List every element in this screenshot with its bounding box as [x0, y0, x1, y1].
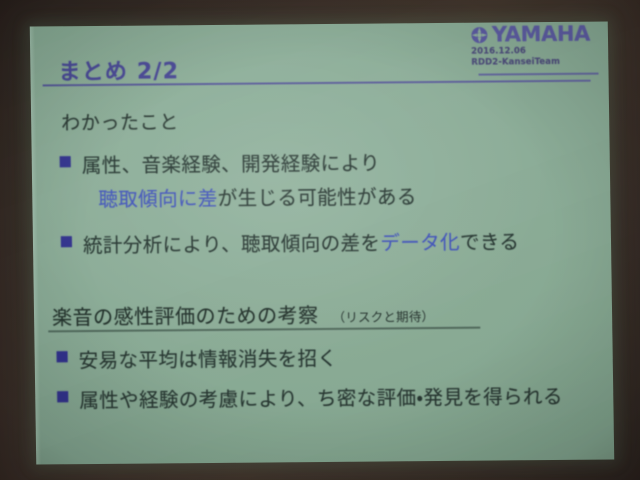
team-name: RDD2-KanseiTeam — [471, 57, 590, 67]
yamaha-wordmark: YAMAHA — [492, 24, 590, 46]
slide-content: YAMAHA 2016.12.06 RDD2-KanseiTeam まとめ 2/… — [30, 22, 614, 465]
slide-surface: YAMAHA 2016.12.06 RDD2-KanseiTeam まとめ 2/… — [30, 22, 614, 465]
bullet-item: 属性や経験の考慮により、ち密な評価・発見を得られる — [57, 380, 563, 413]
square-bullet-icon — [57, 391, 68, 402]
bullet-suffix-text: できる — [460, 230, 520, 254]
brand-block: YAMAHA 2016.12.06 RDD2-KanseiTeam — [471, 24, 591, 67]
section2-heading-note: （リスクと期待） — [332, 306, 434, 326]
square-bullet-icon — [60, 156, 71, 167]
bullet-continuation-text: が生じる可能性がある — [218, 185, 417, 210]
projector-photo: YAMAHA 2016.12.06 RDD2-KanseiTeam まとめ 2/… — [0, 0, 640, 480]
bullet-highlight-text: 聴取傾向に差 — [98, 187, 218, 211]
bullet-continuation-line: 聴取傾向に差が生じる可能性がある — [98, 180, 417, 212]
presentation-date: 2016.12.06 — [471, 47, 590, 57]
bullet-prefix-text: 統計分析により、聴取傾向の差を — [83, 231, 381, 257]
brand-underline — [479, 73, 599, 76]
brand-logo-row: YAMAHA — [471, 24, 590, 46]
bullet-text: 統計分析により、聴取傾向の差をデータ化できる — [83, 225, 520, 258]
section1-lead: わかったこと — [61, 107, 179, 135]
section2-heading: 楽音の感性評価のための考察 — [52, 299, 319, 330]
bullet-highlight-text: データ化 — [380, 231, 460, 255]
slide-title: まとめ 2/2 — [58, 53, 179, 86]
yamaha-tuning-fork-icon — [471, 27, 488, 44]
bullet-item: 属性、音楽経験、開発経験により — [60, 146, 381, 178]
projected-slide: YAMAHA 2016.12.06 RDD2-KanseiTeam まとめ 2/… — [30, 22, 614, 465]
bullet-text: 属性、音楽経験、開発経験により — [82, 146, 381, 178]
bullet-text: 安易な平均は情報消失を招く — [78, 342, 337, 373]
square-bullet-icon — [57, 351, 68, 362]
bullet-item: 統計分析により、聴取傾向の差をデータ化できる — [61, 225, 520, 258]
bullet-text: 属性や経験の考慮により、ち密な評価・発見を得られる — [79, 380, 563, 413]
bullet-item: 安易な平均は情報消失を招く — [56, 342, 337, 373]
square-bullet-icon — [61, 236, 72, 247]
section2-heading-row: 楽音の感性評価のための考察 （リスクと期待） — [52, 298, 435, 330]
